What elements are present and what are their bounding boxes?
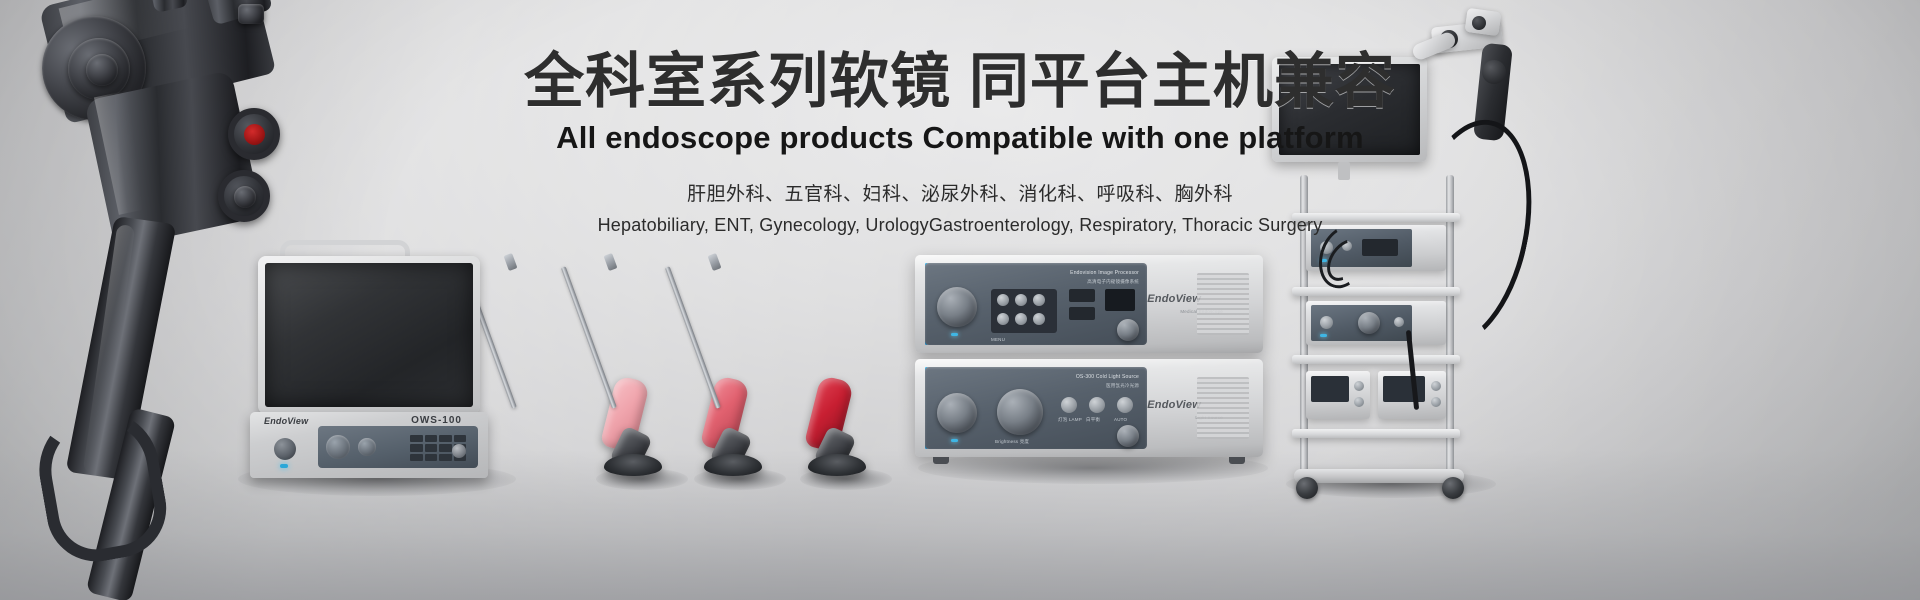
light-source-title-en: OS-300 Cold Light Source	[1076, 374, 1139, 380]
light-source-brightness-dial	[997, 389, 1043, 435]
marketing-banner: 全科室系列软镜 同平台主机兼容 All endoscope products C…	[0, 0, 1920, 600]
processor-title-en: Endovision Image Processor	[1070, 270, 1139, 276]
headline-chinese: 全科室系列软镜 同平台主机兼容	[0, 48, 1920, 115]
processor-function-key-2	[1069, 307, 1095, 320]
light-source-status-led	[951, 439, 958, 442]
light-source-brand-label: EndoView	[1147, 399, 1201, 411]
laparoscopic-forceps-red	[716, 258, 886, 488]
trolley-shelf-4	[1292, 429, 1460, 438]
processor-function-key-1	[1069, 289, 1095, 302]
cold-light-source-unit: OS-300 Cold Light Source 医用氙光冷光源 Brightn…	[915, 359, 1263, 457]
light-source-button-2	[1089, 397, 1105, 413]
processor-usb-port	[1105, 289, 1135, 311]
camera-image-processor-unit: Endovision Image Processor 高清电子内窥镜摄像系统 M…	[915, 255, 1263, 353]
processor-front-panel: Endovision Image Processor 高清电子内窥镜摄像系统 M…	[925, 263, 1147, 345]
specialties-chinese: 肝胆外科、五官科、妇科、泌尿外科、消化科、呼吸科、胸外科	[0, 182, 1920, 209]
light-source-vent-grille	[1197, 377, 1249, 439]
light-source-button-3	[1117, 397, 1133, 413]
processor-title-cn: 高清电子内窥镜摄像系统	[1087, 279, 1139, 285]
light-source-button-1	[1061, 397, 1077, 413]
processor-light-source-stack: Endovision Image Processor 高清电子内窥镜摄像系统 M…	[915, 255, 1275, 470]
light-source-fiber-socket	[937, 393, 977, 433]
processor-status-led	[951, 333, 958, 336]
processor-vent-grille	[1197, 273, 1249, 335]
processor-power-button	[1117, 319, 1139, 341]
light-source-power-button	[1117, 425, 1139, 447]
trolley-wheel-right	[1442, 477, 1464, 499]
processor-keypad-cluster	[991, 289, 1057, 333]
trolley-wheel-left	[1296, 477, 1318, 499]
specialties-english: Hepatobiliary, ENT, Gynecology, UrologyG…	[0, 213, 1920, 238]
trolley-base	[1294, 469, 1464, 483]
light-source-dial-label: Brightness 亮度	[995, 439, 1029, 445]
scope-holder-knob-2	[1472, 16, 1486, 30]
processor-camera-socket	[937, 287, 977, 327]
processor-brand-label: EndoView	[1147, 293, 1201, 305]
banner-text-block: 全科室系列软镜 同平台主机兼容 All endoscope products C…	[0, 48, 1920, 238]
trolley-unit-insufflator	[1306, 371, 1370, 419]
light-source-front-panel: OS-300 Cold Light Source 医用氙光冷光源 Brightn…	[925, 367, 1147, 449]
light-source-title-cn: 医用氙光冷光源	[1106, 383, 1139, 389]
subhead-english: All endoscope products Compatible with o…	[0, 119, 1920, 156]
